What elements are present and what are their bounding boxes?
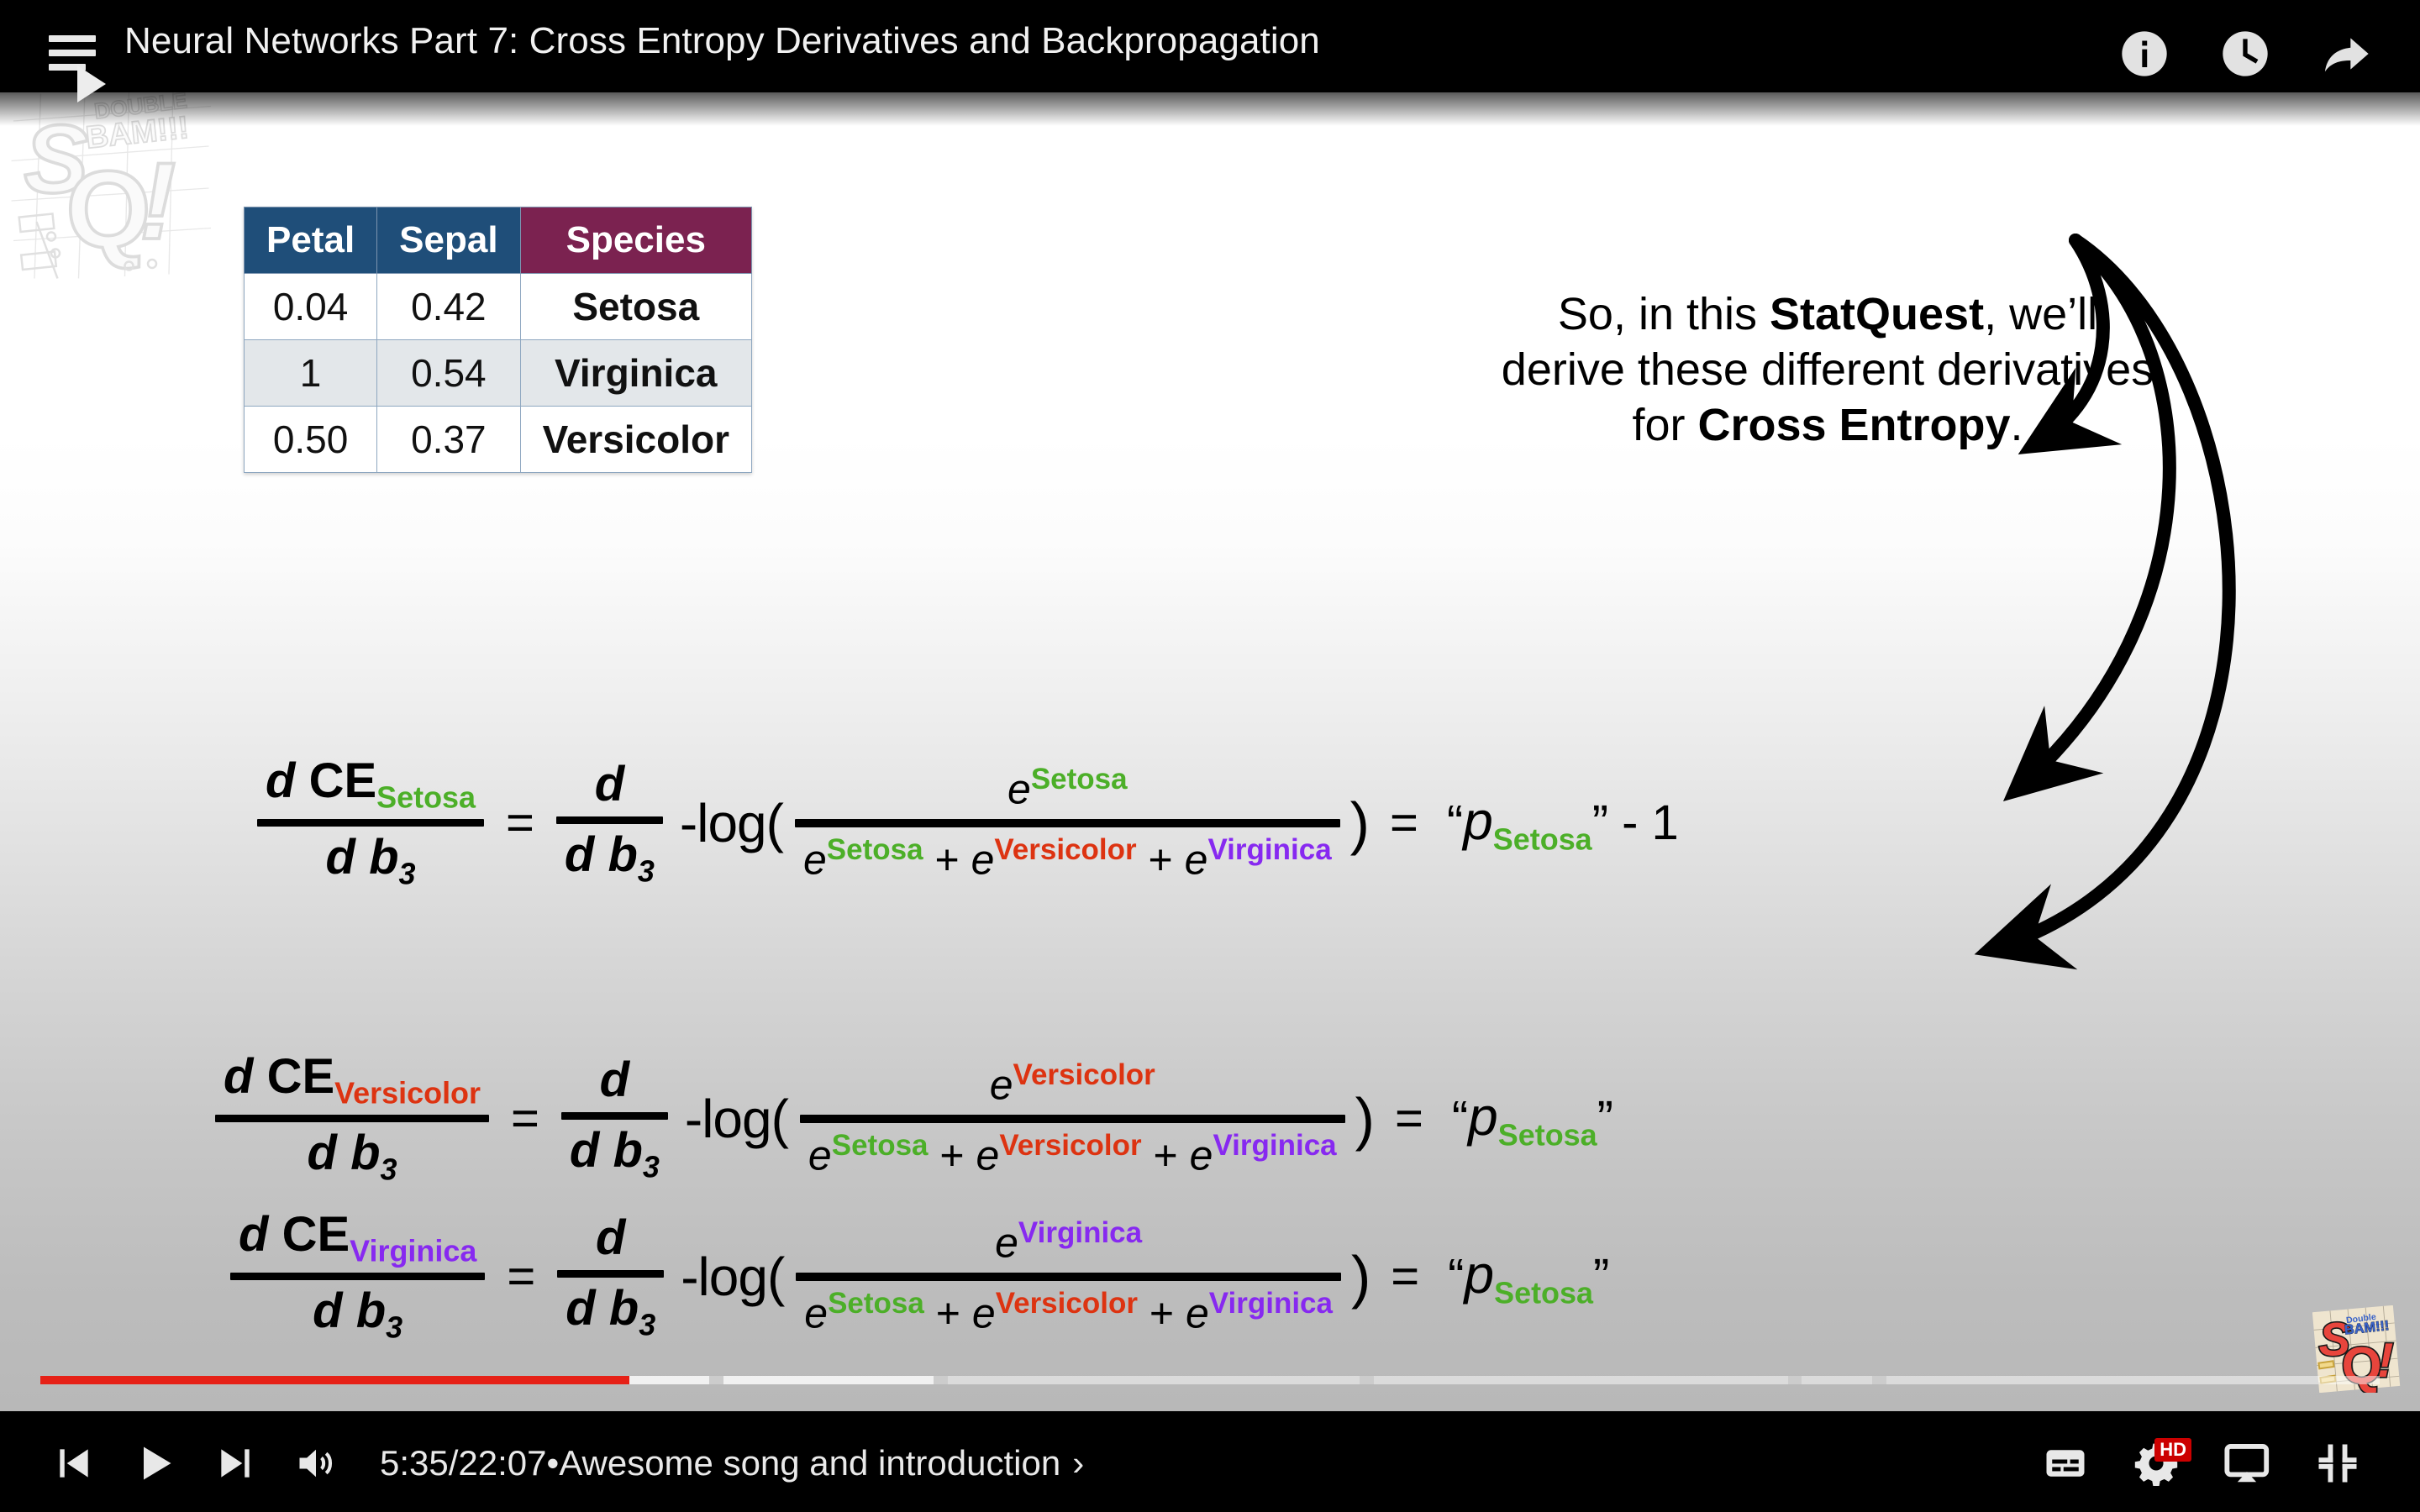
eq3-operator-fraction: d d b3: [557, 1213, 664, 1341]
svg-text:Q: Q: [66, 148, 151, 270]
eq3-close-paren: ): [1351, 1243, 1370, 1310]
eq1-lhs-fraction-bar: [257, 819, 484, 827]
table-header-petal: Petal: [245, 207, 377, 274]
table-row: 1 0.54 Virginica: [245, 340, 752, 407]
chapter-segment[interactable]: [1374, 1376, 1788, 1384]
video-canvas[interactable]: S Q ! DOUBLE BAM!!! Petal Sepal Speci: [0, 92, 2420, 1411]
progress-bar-area[interactable]: [0, 1368, 2420, 1415]
miniplayer-button[interactable]: [2202, 1423, 2292, 1504]
video-player: S Q ! DOUBLE BAM!!! Petal Sepal Speci: [0, 0, 2420, 1512]
play-overlay-triangle-icon: [77, 66, 106, 102]
eq3-op-numerator: d: [587, 1213, 634, 1264]
exit-fullscreen-button[interactable]: [2292, 1423, 2383, 1504]
chapter-title[interactable]: Awesome song and introduction: [559, 1443, 1060, 1483]
eq2-softmax-denominator: eSetosa + eVersicolor + eVirginica: [800, 1129, 1345, 1178]
eq1-lhs-numerator: d CESetosa: [257, 756, 484, 813]
previous-video-button[interactable]: [34, 1423, 114, 1504]
eq3-softmax-denominator: eSetosa + eVersicolor + eVirginica: [796, 1287, 1341, 1336]
chapter-segment[interactable]: [723, 1376, 934, 1384]
eq3-softmax-fraction-bar: [796, 1273, 1341, 1281]
eq2-softmax-fraction-bar: [800, 1115, 1345, 1123]
table-header-row: Petal Sepal Species: [245, 207, 752, 274]
chapter-segment[interactable]: [1802, 1376, 1872, 1384]
narration-text: So, in this StatQuest, we’ll derive thes…: [1361, 287, 2294, 454]
table-header-sepal: Sepal: [377, 207, 520, 274]
volume-button[interactable]: [276, 1423, 356, 1504]
eq3-lhs-fraction-bar: [230, 1273, 485, 1280]
time-and-chapter-display: 5:35 / 22:07 • Awesome song and introduc…: [380, 1443, 1084, 1483]
cell-sepal: 0.42: [377, 274, 520, 340]
cell-species: Virginica: [520, 340, 751, 407]
eq3-equals-2: =: [1391, 1248, 1419, 1305]
eq2-equals-2: =: [1395, 1090, 1423, 1147]
info-icon[interactable]: [2117, 27, 2171, 81]
eq2-neg-log: -log(: [685, 1088, 788, 1150]
eq1-result: “pSetosa” - 1: [1447, 790, 1679, 858]
eq1-equals-2: =: [1390, 795, 1418, 851]
eq3-result: “pSetosa”: [1448, 1243, 1609, 1311]
equation-versicolor: d CEVersicolor d b3 = d d b3 -log( eVers…: [210, 1052, 1613, 1186]
share-arrow-icon[interactable]: [2319, 27, 2373, 81]
eq1-operator-fraction: d d b3: [556, 759, 663, 887]
cell-species: Setosa: [520, 274, 751, 340]
total-time: 22:07: [458, 1443, 546, 1483]
eq2-lhs-numerator: d CEVersicolor: [215, 1052, 489, 1109]
table-row: 0.04 0.42 Setosa: [245, 274, 752, 340]
eq2-lhs-fraction: d CEVersicolor d b3: [215, 1052, 489, 1186]
player-control-bar: 5:35 / 22:07 • Awesome song and introduc…: [0, 1415, 2420, 1512]
equation-setosa: d CESetosa d b3 = d d b3 -log( eSetosa e…: [252, 756, 1679, 890]
played-progress: [40, 1376, 629, 1384]
eq1-equals: =: [506, 795, 534, 851]
narration-line-1: So, in this StatQuest, we’ll: [1361, 287, 2294, 343]
cell-species: Versicolor: [520, 407, 751, 473]
cell-petal: 0.04: [245, 274, 377, 340]
table-row: 0.50 0.37 Versicolor: [245, 407, 752, 473]
eq2-op-fraction-bar: [561, 1112, 668, 1120]
statquest-watermark-logo: S Q ! DOUBLE BAM!!!: [5, 92, 215, 289]
eq3-lhs-numerator: d CEVirginica: [230, 1210, 485, 1267]
eq1-softmax-numerator: eSetosa: [999, 764, 1136, 813]
eq2-equals: =: [511, 1090, 539, 1147]
video-title[interactable]: Neural Networks Part 7: Cross Entropy De…: [124, 20, 1320, 62]
chapter-bullet: •: [547, 1443, 560, 1483]
eq3-softmax-numerator: eVirginica: [986, 1218, 1150, 1267]
eq1-op-numerator: d: [587, 759, 633, 811]
cell-sepal: 0.54: [377, 340, 520, 407]
eq1-neg-log: -log(: [680, 792, 783, 854]
current-time: 5:35: [380, 1443, 449, 1483]
eq2-lhs-fraction-bar: [215, 1115, 489, 1122]
eq1-softmax-fraction-bar: [795, 819, 1340, 827]
narration-line-2: derive these different derivatives: [1361, 343, 2294, 398]
eq1-close-paren: ): [1350, 790, 1370, 857]
watch-later-clock-icon[interactable]: [2218, 27, 2272, 81]
eq2-close-paren: ): [1355, 1085, 1375, 1152]
iris-data-table: Petal Sepal Species 0.04 0.42 Setosa 1 0…: [244, 207, 752, 473]
cell-petal: 0.50: [245, 407, 377, 473]
time-separator: /: [449, 1443, 459, 1483]
eq2-result: “pSetosa”: [1452, 1085, 1613, 1153]
eq3-neg-log: -log(: [681, 1246, 784, 1308]
eq2-lhs-denominator: d b3: [299, 1128, 406, 1185]
play-button[interactable]: [114, 1423, 195, 1504]
eq1-lhs-denominator: d b3: [318, 832, 424, 890]
eq2-softmax-fraction: eVersicolor eSetosa + eVersicolor + eVir…: [800, 1060, 1345, 1178]
eq3-equals: =: [507, 1248, 535, 1305]
eq1-op-denominator: d b3: [556, 830, 663, 887]
eq2-op-numerator: d: [592, 1055, 638, 1106]
svg-text:!: !: [139, 139, 176, 262]
next-video-button[interactable]: [195, 1423, 276, 1504]
settings-gear-button[interactable]: HD: [2111, 1423, 2202, 1504]
cell-petal: 1: [245, 340, 377, 407]
narration-line-3: for Cross Entropy.: [1361, 398, 2294, 454]
right-controls-group: HD: [2020, 1423, 2383, 1504]
chapter-segment[interactable]: [1886, 1376, 2380, 1384]
eq2-operator-fraction: d d b3: [561, 1055, 668, 1183]
eq2-softmax-numerator: eVersicolor: [981, 1060, 1164, 1109]
eq1-softmax-fraction: eSetosa eSetosa + eVersicolor + eVirgini…: [795, 764, 1340, 882]
chapter-segment[interactable]: [40, 1376, 709, 1384]
eq3-op-fraction-bar: [557, 1270, 664, 1278]
eq3-lhs-denominator: d b3: [304, 1286, 411, 1343]
table-header-species: Species: [520, 207, 751, 274]
eq2-op-denominator: d b3: [561, 1126, 668, 1183]
progress-track[interactable]: [40, 1376, 2380, 1384]
eq1-lhs-fraction: d CESetosa d b3: [257, 756, 484, 890]
eq3-lhs-fraction: d CEVirginica d b3: [230, 1210, 485, 1344]
chapter-segment[interactable]: [948, 1376, 1360, 1384]
eq3-softmax-fraction: eVirginica eSetosa + eVersicolor + eVirg…: [796, 1218, 1341, 1336]
eq3-op-denominator: d b3: [557, 1284, 664, 1341]
cell-sepal: 0.37: [377, 407, 520, 473]
eq1-op-fraction-bar: [556, 816, 663, 824]
subtitles-button[interactable]: [2020, 1423, 2111, 1504]
quality-badge: HD: [2154, 1438, 2191, 1462]
equation-virginica: d CEVirginica d b3 = d d b3 -log( eVirgi…: [225, 1210, 1609, 1344]
eq1-softmax-denominator: eSetosa + eVersicolor + eVirginica: [795, 833, 1340, 882]
chapter-chevron-icon[interactable]: ›: [1072, 1443, 1084, 1483]
